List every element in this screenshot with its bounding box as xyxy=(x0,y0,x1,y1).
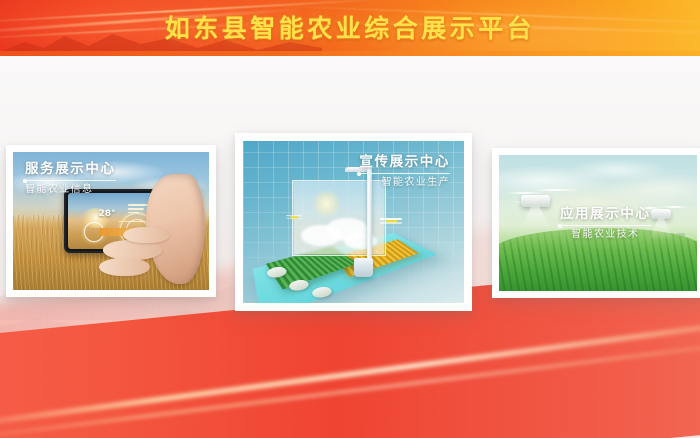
card-title-rule xyxy=(359,173,450,174)
card-application-caption: 应用展示中心 智能农业技术 xyxy=(560,207,651,241)
drone-body xyxy=(651,209,671,219)
finger xyxy=(123,227,170,244)
drone-icon xyxy=(380,216,402,225)
presentation-slide: 如东县智能农业综合展示平台 28° xyxy=(0,0,700,438)
finger xyxy=(99,258,150,276)
card-application[interactable]: 应用展示中心 智能农业技术 xyxy=(492,148,700,298)
card-service-caption: 服务展示中心 智能农业信息 xyxy=(25,162,116,196)
card-promotion-subtitle: 智能农业生产 xyxy=(359,178,450,189)
card-promotion-caption: 宣传展示中心 智能农业生产 xyxy=(359,155,450,189)
cloud-icon xyxy=(344,233,377,249)
spray-cone xyxy=(520,206,552,230)
card-promotion[interactable]: 宣传展示中心 智能农业生产 xyxy=(235,133,472,311)
finger xyxy=(103,240,162,259)
spray-cone xyxy=(649,218,673,240)
header-banner: 如东县智能农业综合展示平台 xyxy=(0,0,700,56)
drone-body xyxy=(521,195,549,207)
card-service-subtitle: 智能农业信息 xyxy=(25,185,116,196)
card-title-rule xyxy=(560,225,651,226)
card-service[interactable]: 28° 服务展示中心 智能农业信息 xyxy=(6,145,216,297)
drone-blade xyxy=(533,189,578,191)
drone-blade xyxy=(505,192,545,194)
drone-blade xyxy=(660,206,689,208)
drone-icon xyxy=(286,214,302,220)
card-service-title: 服务展示中心 xyxy=(25,162,116,176)
page-title: 如东县智能农业综合展示平台 xyxy=(0,0,700,56)
water-bucket-icon xyxy=(354,258,374,277)
glass-display-panel xyxy=(292,180,387,257)
card-title-rule xyxy=(25,180,116,181)
card-application-subtitle: 智能农业技术 xyxy=(560,230,651,241)
card-promotion-art: 宣传展示中心 智能农业生产 xyxy=(243,141,464,303)
card-promotion-title: 宣传展示中心 xyxy=(359,155,450,169)
card-application-art: 应用展示中心 智能农业技术 xyxy=(499,155,697,291)
card-service-art: 28° 服务展示中心 智能农业信息 xyxy=(13,152,209,290)
hud-temperature-readout: 28° xyxy=(99,209,116,219)
card-application-title: 应用展示中心 xyxy=(560,207,651,221)
